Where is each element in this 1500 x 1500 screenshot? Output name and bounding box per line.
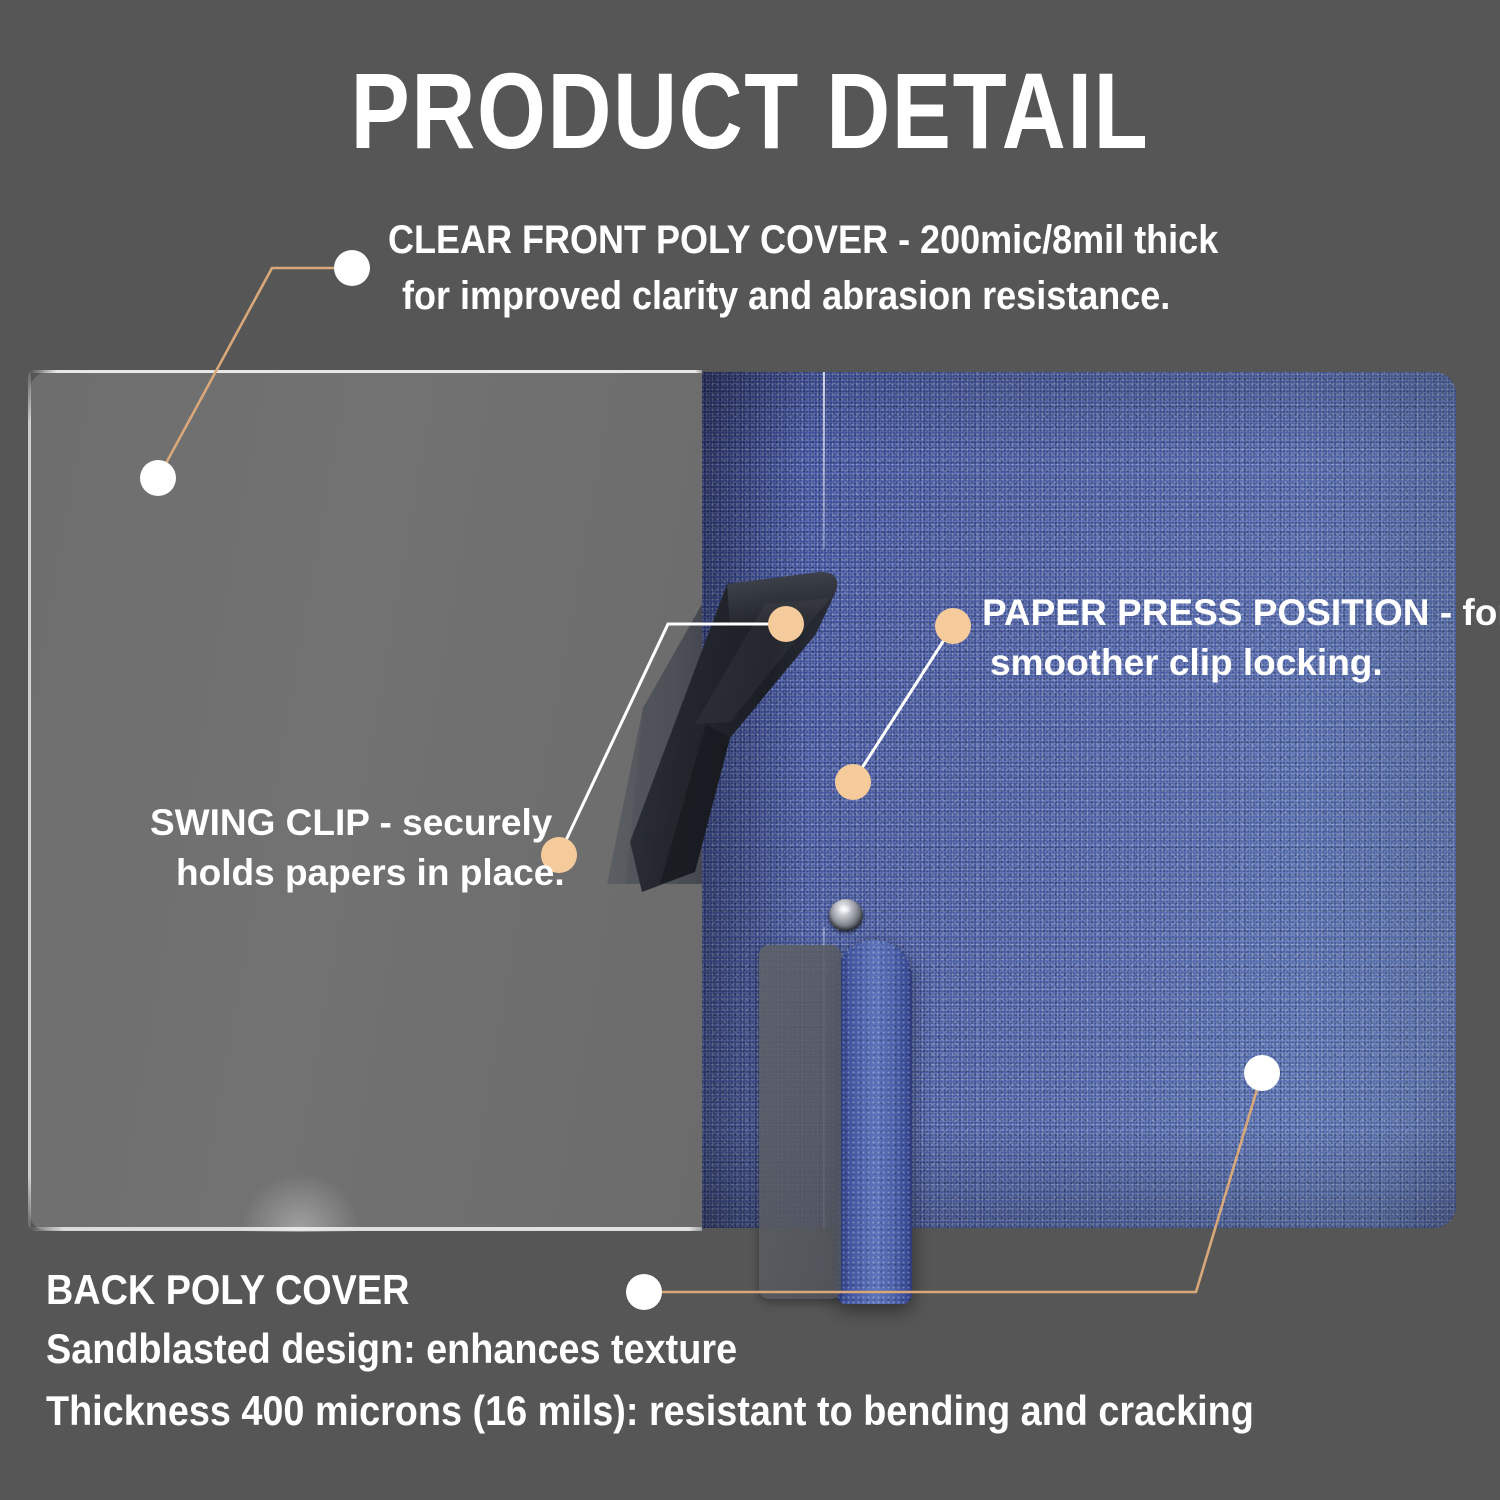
back-cover-bullet-2: Thickness 400 microns (16 mils): resista… [46,1380,1254,1442]
callout-line-1: SWING CLIP - securely [150,798,565,848]
callout-line-1: CLEAR FRONT POLY COVER - 200mic/8mil thi… [388,212,1218,268]
back-cover-heading: BACK POLY COVER [46,1262,1254,1318]
callout-clear-front-poly-cover: CLEAR FRONT POLY COVER - 200mic/8mil thi… [388,212,1310,324]
callout-line-2: holds papers in place. [176,848,565,898]
callout-anchor-clear-front-cover[interactable] [334,250,370,286]
callout-line-2: for improved clarity and abrasion resist… [402,268,1220,324]
callout-dot-back-cover[interactable] [1244,1055,1280,1091]
callout-line-2: smoother clip locking. [990,638,1500,688]
callout-anchor-paper-press[interactable] [835,764,871,800]
callout-paper-press-position: PAPER PRESS POSITION - for smoother clip… [982,588,1500,688]
callout-swing-clip: SWING CLIP - securely holds papers in pl… [150,798,565,898]
callout-line-1: PAPER PRESS POSITION - for [982,588,1500,638]
callout-dot-clear-front-cover[interactable] [140,460,176,496]
callout-dot-paper-press[interactable] [935,608,971,644]
callout-back-poly-cover: BACK POLY COVER Sandblasted design: enha… [46,1262,1388,1442]
callout-anchor-swing-clip[interactable] [768,606,804,642]
metal-rivet [829,899,863,931]
back-cover-bullet-1: Sandblasted design: enhances texture [46,1318,1254,1380]
product-detail-infographic: PRODUCT DETAIL [0,0,1500,1500]
page-title: PRODUCT DETAIL [135,48,1365,173]
